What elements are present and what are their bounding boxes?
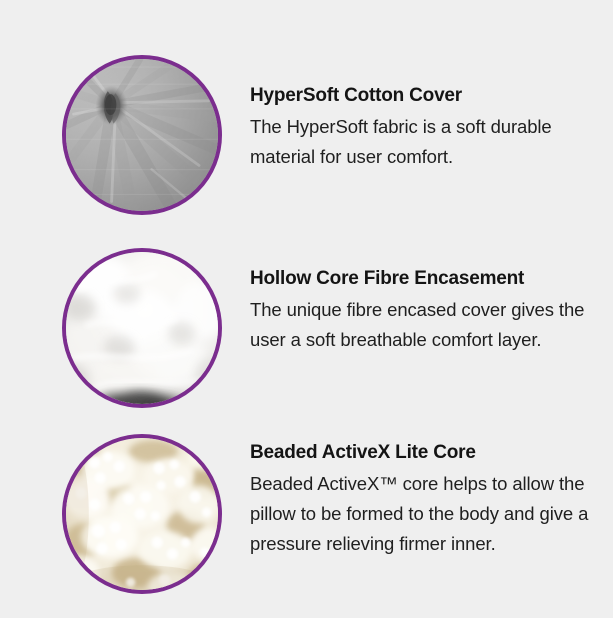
cotton-fabric-illustration xyxy=(66,59,218,211)
feature-list: HyperSoft Cotton Cover The HyperSoft fab… xyxy=(0,0,613,618)
feature-text-1: HyperSoft Cotton Cover The HyperSoft fab… xyxy=(250,83,600,172)
beaded-core-illustration xyxy=(66,438,218,590)
feature-text-3: Beaded ActiveX Lite Core Beaded ActiveX™… xyxy=(250,440,600,559)
feature-title: Hollow Core Fibre Encasement xyxy=(250,266,600,291)
feature-text-2: Hollow Core Fibre Encasement The unique … xyxy=(250,266,600,355)
hollow-fibre-illustration xyxy=(66,252,218,404)
feature-image-3-wrapper xyxy=(62,434,222,594)
gray-cotton-fabric-photo xyxy=(62,55,222,215)
white-hollow-fibre-photo xyxy=(62,248,222,408)
feature-image-2-wrapper xyxy=(62,248,222,408)
cream-beaded-core-photo xyxy=(62,434,222,594)
feature-description: The HyperSoft fabric is a soft durable m… xyxy=(250,112,600,172)
feature-title: HyperSoft Cotton Cover xyxy=(250,83,600,108)
feature-image-1-wrapper xyxy=(62,55,222,215)
feature-description: The unique fibre encased cover gives the… xyxy=(250,295,600,355)
feature-description: Beaded ActiveX™ core helps to allow the … xyxy=(250,469,600,559)
feature-title: Beaded ActiveX Lite Core xyxy=(250,440,600,465)
